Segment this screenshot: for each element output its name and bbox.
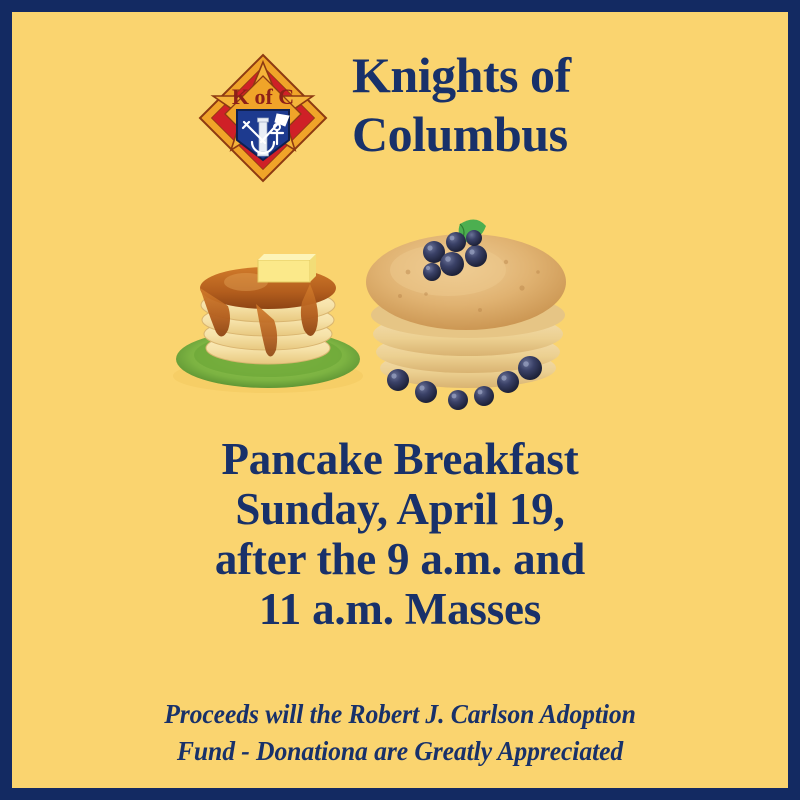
poster-canvas: K of C [12,12,788,788]
pancake-photo-svg [356,210,584,420]
proceeds-note-line-1: Proceeds will the Robert J. Carlson Adop… [31,696,768,733]
knights-of-columbus-emblem-icon: K of C [197,52,329,184]
event-headline-line-3: after the 9 a.m. and [12,534,788,584]
pancake-stack-with-blueberries-photo [356,210,584,420]
butter-pat [258,254,316,282]
brand-line-2: Columbus [352,106,568,162]
event-headline-line-2: Sunday, April 19, [12,484,788,534]
event-headline-line-4: 11 a.m. Masses [12,584,788,634]
proceeds-note-line-2: Fund - Donationa are Greatly Appreciated [31,733,768,770]
food-imagery [12,208,788,424]
emblem-motto-text: K of C [232,84,294,109]
proceeds-note: Proceeds will the Robert J. Carlson Adop… [31,696,768,770]
emblem-svg: K of C [197,52,329,184]
pancake-illustration-svg [160,226,376,398]
brand-title: Knights of Columbus [352,46,652,164]
brand-line-1: Knights of [352,47,571,103]
emblem-motto: K of C [232,84,294,109]
event-headline-line-1: Pancake Breakfast [12,434,788,484]
pancake-stack-with-butter-and-syrup-illustration [160,226,376,398]
header: K of C [12,46,788,186]
event-headline: Pancake Breakfast Sunday, April 19, afte… [12,434,788,634]
poster-frame: K of C [0,0,800,800]
